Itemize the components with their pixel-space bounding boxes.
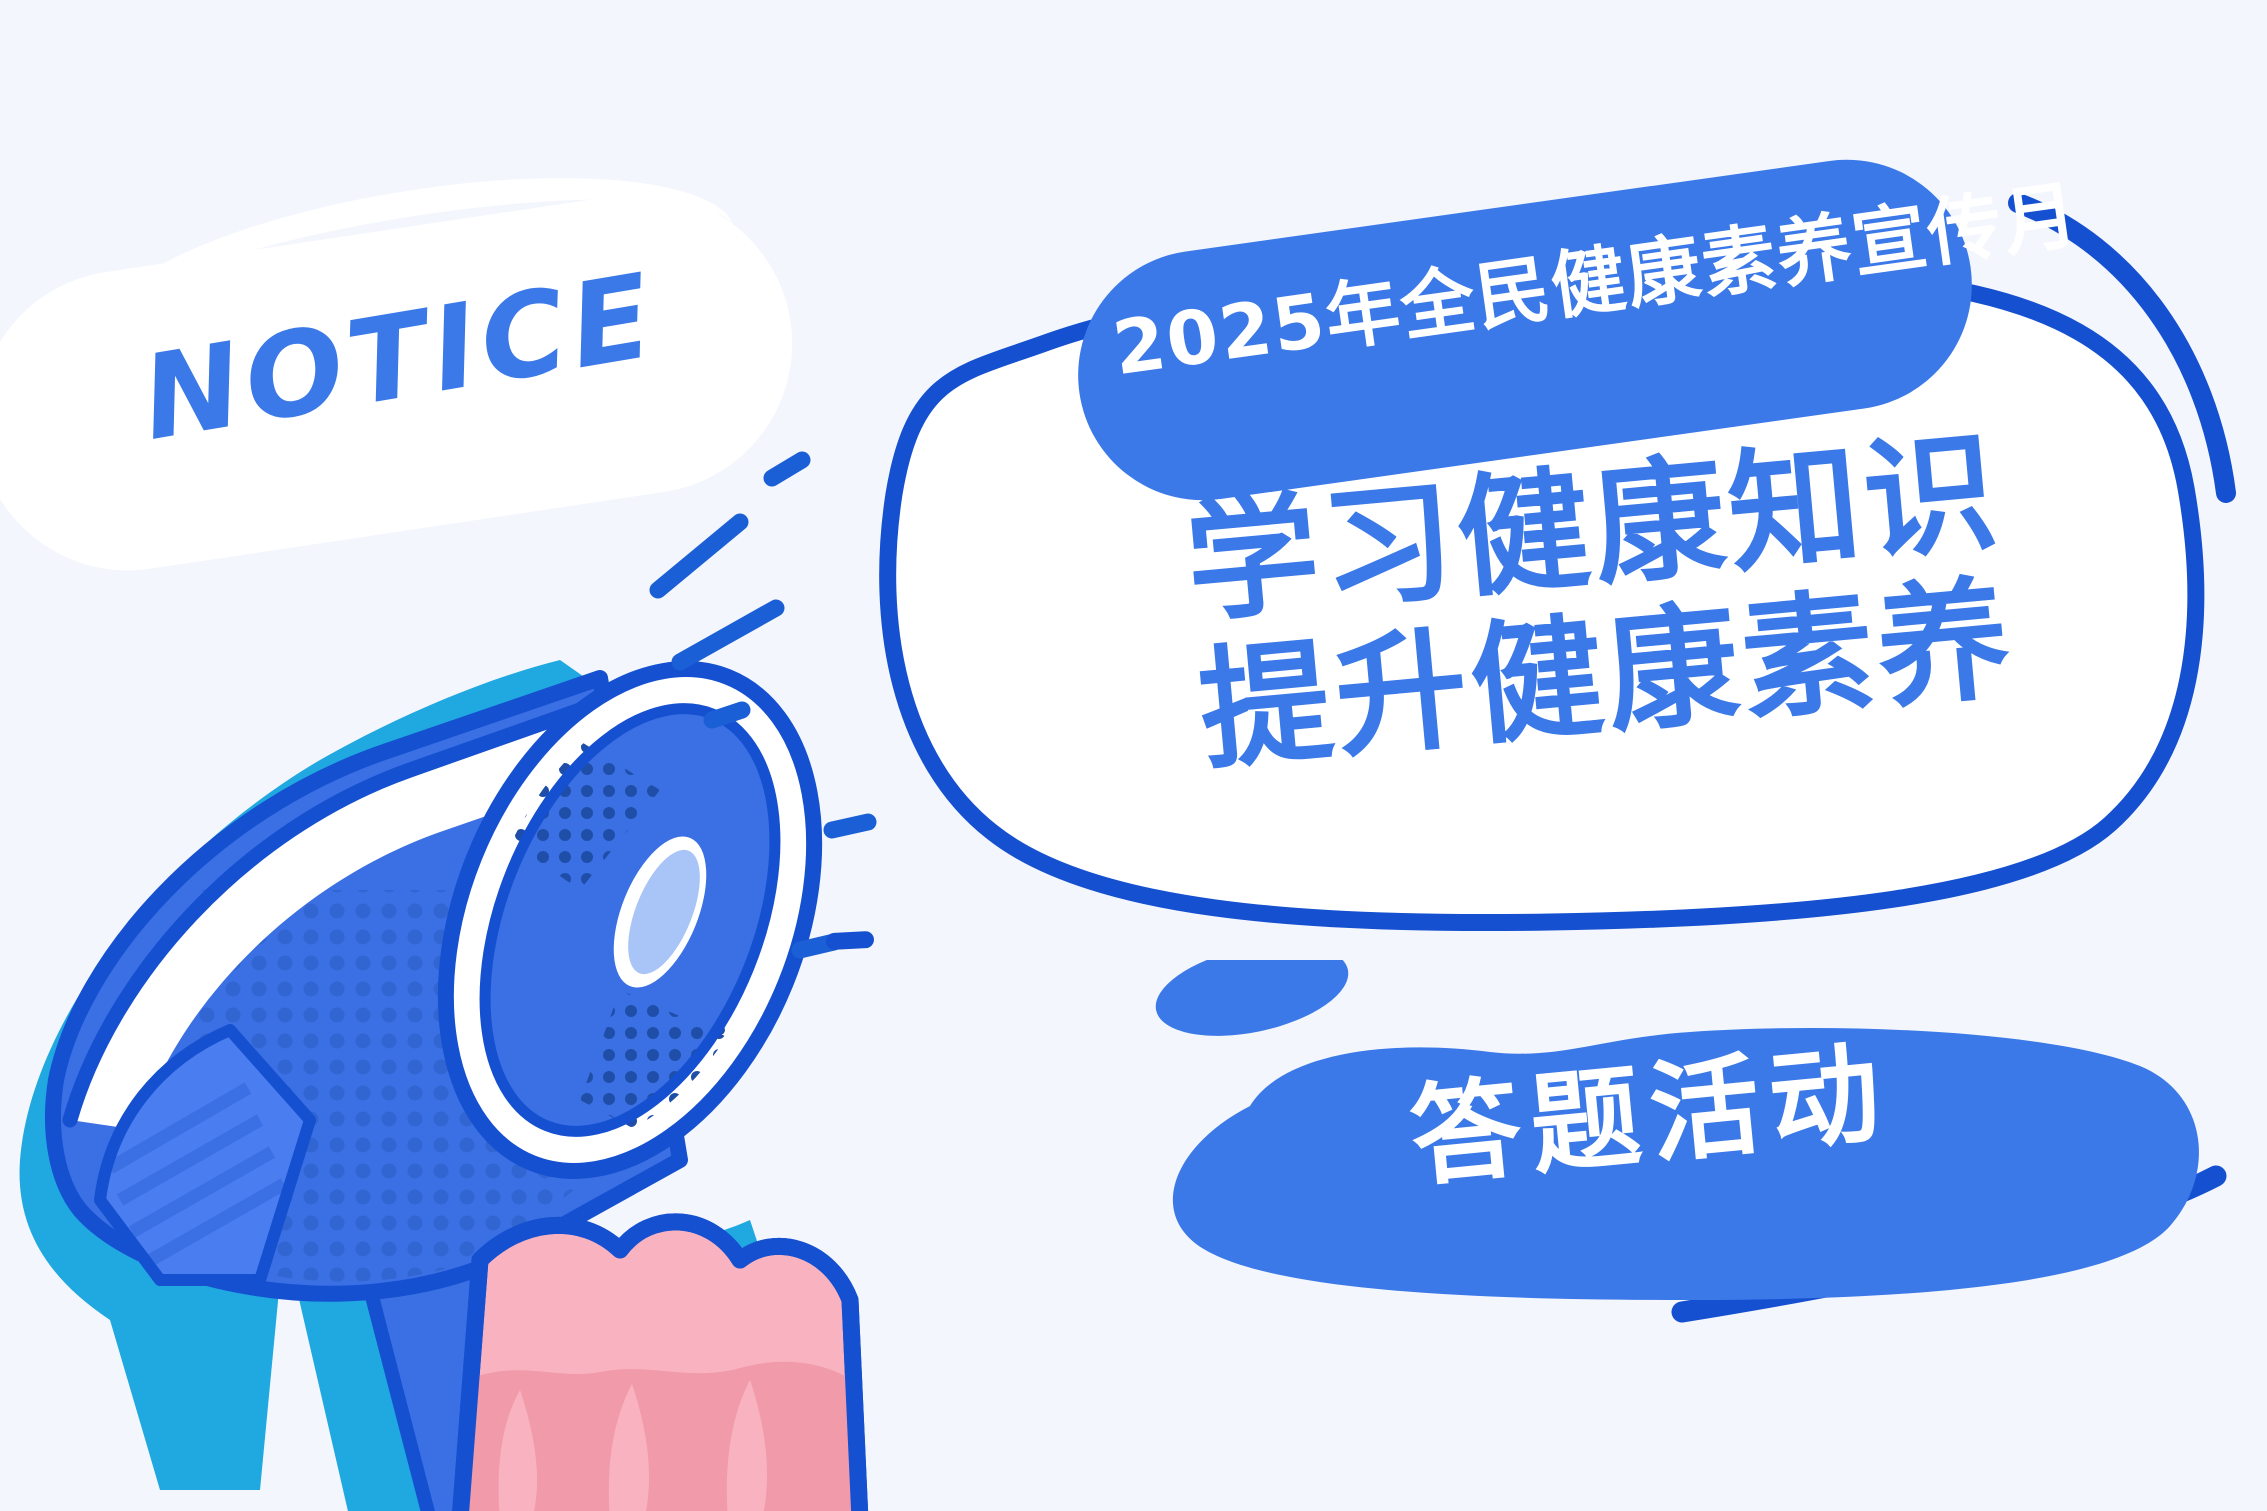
decorative-ellipse-icon [1147, 960, 1356, 1051]
hand-gripping-megaphone [460, 1222, 860, 1511]
poster-canvas: NOTICE [0, 0, 2267, 1511]
